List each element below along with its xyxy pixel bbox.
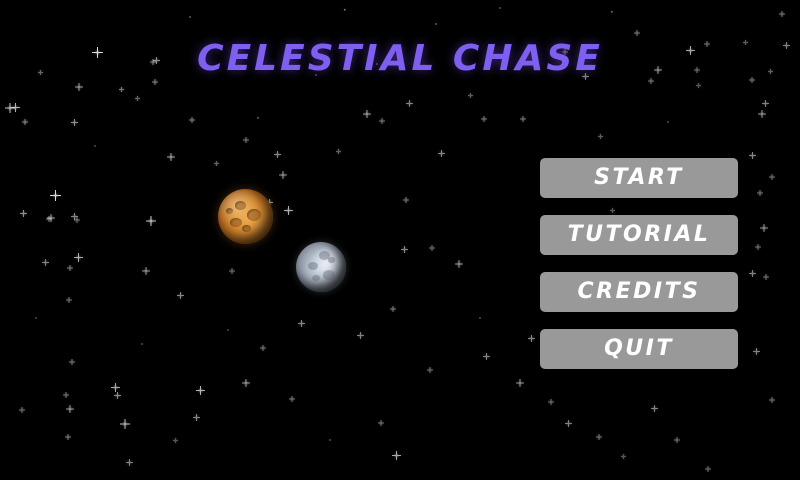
star-core — [530, 337, 532, 339]
star-core — [124, 423, 126, 425]
star-sparkle — [193, 414, 200, 421]
star-sparkle — [65, 434, 71, 440]
star-sparkle — [19, 407, 25, 413]
star-dot — [435, 23, 437, 25]
star-dot — [227, 329, 229, 331]
star-sparkle — [749, 270, 756, 277]
star-core — [78, 86, 80, 88]
star-sparkle — [242, 379, 250, 387]
star-sparkle — [142, 267, 150, 275]
star-sparkle — [696, 83, 701, 88]
main-menu: START TUTORIAL CREDITS QUIT — [540, 158, 738, 369]
star-core — [128, 461, 130, 463]
star-core — [764, 102, 766, 104]
star-core — [245, 382, 247, 384]
star-sparkle — [229, 268, 235, 274]
star-dot — [329, 439, 331, 441]
star-core — [68, 299, 70, 301]
star-core — [440, 152, 442, 154]
star-sparkle — [11, 103, 20, 112]
star-core — [21, 409, 23, 411]
star-core — [287, 209, 289, 211]
star-sparkle — [298, 320, 305, 327]
star-core — [67, 436, 69, 438]
star-sparkle — [379, 118, 385, 124]
star-core — [707, 468, 709, 470]
star-sparkle — [763, 274, 769, 280]
game-title: CELESTIAL CHASE — [0, 38, 800, 79]
star-core — [405, 199, 407, 201]
star-core — [522, 118, 524, 120]
star-dot — [611, 11, 613, 13]
star-sparkle — [378, 420, 384, 426]
star-core — [14, 106, 16, 108]
star-sparkle — [243, 137, 249, 143]
star-sparkle — [74, 217, 80, 223]
star-core — [22, 212, 24, 214]
planet-crater — [226, 208, 233, 214]
star-core — [395, 454, 397, 456]
star-core — [550, 401, 552, 403]
moon-crater — [312, 275, 320, 281]
star-dot — [257, 117, 259, 119]
star-core — [9, 107, 11, 109]
star-sparkle — [22, 119, 28, 125]
star-sparkle — [71, 119, 78, 126]
star-sparkle — [75, 83, 83, 91]
star-core — [174, 439, 176, 441]
planet-crater — [247, 209, 261, 221]
star-core — [262, 347, 264, 349]
star-core — [282, 174, 284, 176]
star-sparkle — [363, 110, 371, 118]
star-dot — [35, 317, 37, 319]
star-sparkle — [120, 419, 130, 429]
star-core — [392, 308, 394, 310]
star-dot — [344, 9, 346, 11]
star-core — [69, 408, 71, 410]
star-sparkle — [769, 174, 775, 180]
star-sparkle — [146, 216, 156, 226]
star-core — [179, 294, 181, 296]
star-dot — [189, 16, 191, 18]
star-sparkle — [5, 103, 15, 113]
star-sparkle — [762, 100, 769, 107]
star-core — [170, 156, 172, 158]
star-core — [636, 32, 638, 34]
star-dot — [94, 145, 96, 147]
star-sparkle — [651, 405, 658, 412]
star-sparkle — [390, 306, 396, 312]
star-sparkle — [114, 392, 121, 399]
star-sparkle — [520, 116, 526, 122]
star-core — [653, 407, 655, 409]
star-core — [458, 263, 460, 265]
star-core — [73, 215, 75, 217]
star-dot — [667, 121, 669, 123]
star-core — [120, 88, 122, 90]
star-sparkle — [67, 265, 73, 271]
moon-crater — [308, 262, 318, 270]
star-core — [757, 246, 759, 248]
star-sparkle — [757, 190, 763, 196]
star-core — [191, 119, 193, 121]
star-core — [73, 121, 75, 123]
star-dot — [479, 317, 481, 319]
star-sparkle — [71, 213, 78, 220]
moon-crater — [328, 257, 335, 263]
star-sparkle — [621, 454, 626, 459]
star-core — [276, 153, 278, 155]
star-core — [765, 276, 767, 278]
star-sparkle — [753, 348, 760, 355]
star-core — [231, 270, 233, 272]
star-sparkle — [111, 383, 120, 392]
star-sparkle — [189, 117, 195, 123]
star-core — [755, 350, 757, 352]
star-core — [751, 154, 753, 156]
star-sparkle — [135, 96, 140, 101]
star-dot — [499, 7, 501, 9]
star-core — [567, 422, 569, 424]
star-core — [380, 422, 382, 424]
star-sparkle — [779, 11, 785, 17]
star-sparkle — [392, 451, 401, 460]
star-sparkle — [214, 161, 219, 166]
star-sparkle — [42, 259, 49, 266]
star-sparkle — [66, 297, 72, 303]
star-sparkle — [548, 399, 554, 405]
star-core — [215, 162, 217, 164]
star-sparkle — [274, 151, 281, 158]
star-core — [65, 394, 67, 396]
star-core — [24, 121, 26, 123]
star-sparkle — [516, 379, 524, 387]
star-sparkle — [755, 244, 761, 250]
star-sparkle — [455, 260, 463, 268]
star-sparkle — [357, 332, 364, 339]
star-sparkle — [598, 134, 603, 139]
star-core — [676, 439, 678, 441]
star-core — [76, 219, 78, 221]
star-core — [761, 113, 763, 115]
planet-crater — [242, 225, 251, 232]
star-core — [77, 256, 79, 258]
star-sparkle — [63, 392, 69, 398]
star-core — [136, 97, 138, 99]
moon-crater — [323, 270, 335, 280]
star-sparkle — [406, 100, 413, 107]
star-core — [337, 150, 339, 152]
star-sparkle — [173, 438, 178, 443]
star-sparkle — [438, 150, 445, 157]
star-sparkle — [50, 190, 61, 201]
star-core — [48, 218, 50, 220]
star-core — [71, 361, 73, 363]
star-core — [195, 416, 197, 418]
star-sparkle — [69, 359, 75, 365]
star-core — [54, 194, 56, 196]
star-sparkle — [528, 335, 535, 342]
star-core — [599, 135, 601, 137]
star-dot — [141, 343, 143, 345]
star-core — [116, 394, 118, 396]
star-sparkle — [47, 214, 55, 222]
star-core — [381, 120, 383, 122]
star-sparkle — [565, 420, 572, 427]
star-core — [300, 322, 302, 324]
star-core — [403, 248, 405, 250]
star-core — [431, 247, 433, 249]
star-sparkle — [46, 216, 52, 222]
star-core — [751, 272, 753, 274]
star-sparkle — [481, 116, 487, 122]
star-sparkle — [634, 30, 640, 36]
star-sparkle — [769, 397, 775, 403]
star-sparkle — [126, 459, 133, 466]
star-sparkle — [260, 345, 266, 351]
star-core — [429, 369, 431, 371]
star-core — [759, 192, 761, 194]
planet-crater — [230, 218, 242, 228]
star-core — [485, 355, 487, 357]
star-core — [519, 382, 521, 384]
star-core — [245, 139, 247, 141]
star-sparkle — [403, 197, 409, 203]
star-sparkle — [596, 434, 602, 440]
star-sparkle — [279, 171, 287, 179]
credits-button[interactable]: CREDITS — [540, 272, 738, 312]
star-core — [763, 227, 765, 229]
star-sparkle — [167, 153, 175, 161]
star-sparkle — [336, 149, 341, 154]
star-core — [483, 118, 485, 120]
star-core — [771, 399, 773, 401]
star-core — [291, 398, 293, 400]
star-core — [697, 84, 699, 86]
star-core — [199, 389, 201, 391]
star-core — [469, 94, 471, 96]
star-core — [781, 13, 783, 15]
star-sparkle — [401, 246, 408, 253]
star-sparkle — [758, 110, 766, 118]
star-sparkle — [284, 206, 293, 215]
tutorial-button[interactable]: TUTORIAL — [540, 215, 738, 255]
star-core — [69, 267, 71, 269]
star-core — [408, 102, 410, 104]
star-core — [771, 176, 773, 178]
star-core — [598, 436, 600, 438]
star-core — [359, 334, 361, 336]
star-sparkle — [196, 386, 205, 395]
star-sparkle — [152, 79, 158, 85]
star-sparkle — [429, 245, 435, 251]
start-button[interactable]: START — [540, 158, 738, 198]
star-core — [114, 386, 116, 388]
star-sparkle — [760, 224, 768, 232]
star-sparkle — [177, 292, 184, 299]
star-sparkle — [427, 367, 433, 373]
planet-crater — [235, 201, 246, 210]
star-sparkle — [20, 210, 27, 217]
star-core — [145, 270, 147, 272]
star-sparkle — [289, 396, 295, 402]
quit-button[interactable]: QUIT — [540, 329, 738, 369]
gray-moon-icon — [296, 242, 346, 292]
orange-planet-icon — [218, 189, 273, 244]
star-sparkle — [66, 405, 74, 413]
star-core — [150, 220, 152, 222]
star-sparkle — [119, 87, 124, 92]
star-sparkle — [749, 152, 756, 159]
star-core — [50, 217, 52, 219]
star-core — [650, 80, 652, 82]
star-sparkle — [468, 93, 473, 98]
star-core — [154, 81, 156, 83]
game-main-menu-screen: CELESTIAL CHASE START TUTORIAL CREDITS Q… — [0, 0, 800, 480]
star-sparkle — [74, 253, 83, 262]
star-core — [622, 455, 624, 457]
star-core — [44, 261, 46, 263]
star-sparkle — [705, 466, 711, 472]
star-core — [751, 79, 753, 81]
star-sparkle — [674, 437, 680, 443]
star-sparkle — [483, 353, 490, 360]
star-core — [366, 113, 368, 115]
